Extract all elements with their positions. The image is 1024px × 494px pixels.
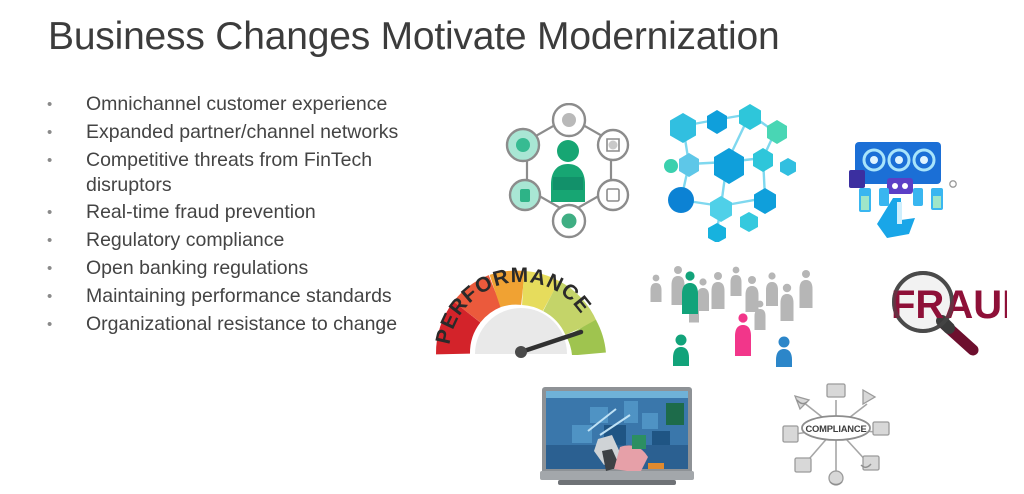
bullet-list: • Omnichannel customer experience • Expa… — [40, 92, 415, 340]
laptop-device-photo — [538, 385, 696, 492]
fintech-mobile-svg — [845, 138, 960, 243]
bullet-dot-icon: • — [40, 256, 86, 281]
bullet-dot-icon: • — [40, 120, 86, 145]
fintech-mobile-banking-illustration — [845, 138, 960, 243]
crowd-svg — [648, 262, 823, 367]
bullet-dot-icon: • — [40, 228, 86, 253]
bullet-dot-icon: • — [40, 148, 86, 173]
list-item-label: Expanded partner/channel networks — [86, 120, 415, 145]
fraud-magnifier-graphic: FRAUD — [885, 266, 1007, 358]
laptop-svg — [538, 385, 696, 492]
list-item-label: Real-time fraud prevention — [86, 200, 415, 225]
list-item-label: Omnichannel customer experience — [86, 92, 415, 117]
list-item-label: Regulatory compliance — [86, 228, 415, 253]
bullet-dot-icon: • — [40, 312, 86, 337]
partner-channel-network-diagram — [655, 92, 800, 242]
list-item-label: Maintaining performance standards — [86, 284, 415, 309]
omnichannel-hexagon-diagram — [497, 103, 642, 248]
list-item: • Expanded partner/channel networks — [40, 120, 415, 145]
bullet-dot-icon: • — [40, 200, 86, 225]
list-item: • Maintaining performance standards — [40, 284, 415, 309]
partner-network-svg — [655, 92, 800, 242]
list-item: • Open banking regulations — [40, 256, 415, 281]
compliance-label: COMPLIANCE — [805, 423, 866, 434]
crowd-of-people-illustration — [648, 262, 823, 367]
compliance-hub-diagram: COMPLIANCE — [775, 378, 897, 494]
fraud-magnifier-svg: FRAUD — [885, 266, 1007, 358]
bullet-dot-icon: • — [40, 92, 86, 117]
slide-canvas: Business Changes Motivate Modernization … — [0, 0, 1024, 494]
list-item: • Real-time fraud prevention — [40, 200, 415, 225]
list-item: • Competitive threats from FinTech disru… — [40, 148, 415, 197]
compliance-hub-svg: COMPLIANCE — [775, 378, 897, 494]
list-item: • Omnichannel customer experience — [40, 92, 415, 117]
bullet-dot-icon: • — [40, 284, 86, 309]
omnichannel-hexagon-svg — [497, 103, 642, 248]
performance-gauge-svg: PERFORMANCE — [423, 262, 613, 362]
list-item-label: Organizational resistance to change — [86, 312, 415, 337]
list-item-label: Open banking regulations — [86, 256, 415, 281]
list-item: • Organizational resistance to change — [40, 312, 415, 337]
list-item: • Regulatory compliance — [40, 228, 415, 253]
list-item-label: Competitive threats from FinTech disrupt… — [86, 148, 415, 197]
page-title: Business Changes Motivate Modernization — [48, 13, 948, 61]
performance-gauge: PERFORMANCE — [423, 262, 613, 362]
